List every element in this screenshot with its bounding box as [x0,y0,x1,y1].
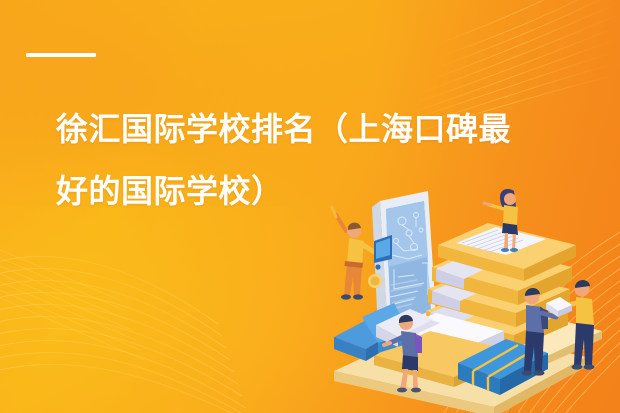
title-line-1: 徐汇国际学校排名（上海口碑最 [56,98,566,160]
title-accent-dash [26,53,96,57]
isometric-books-illustration [318,185,620,413]
article-cover-banner: 徐汇国际学校排名（上海口碑最 好的国际学校） [0,0,620,413]
tablet-camera-dot [375,264,380,269]
coin-accent [368,274,382,288]
